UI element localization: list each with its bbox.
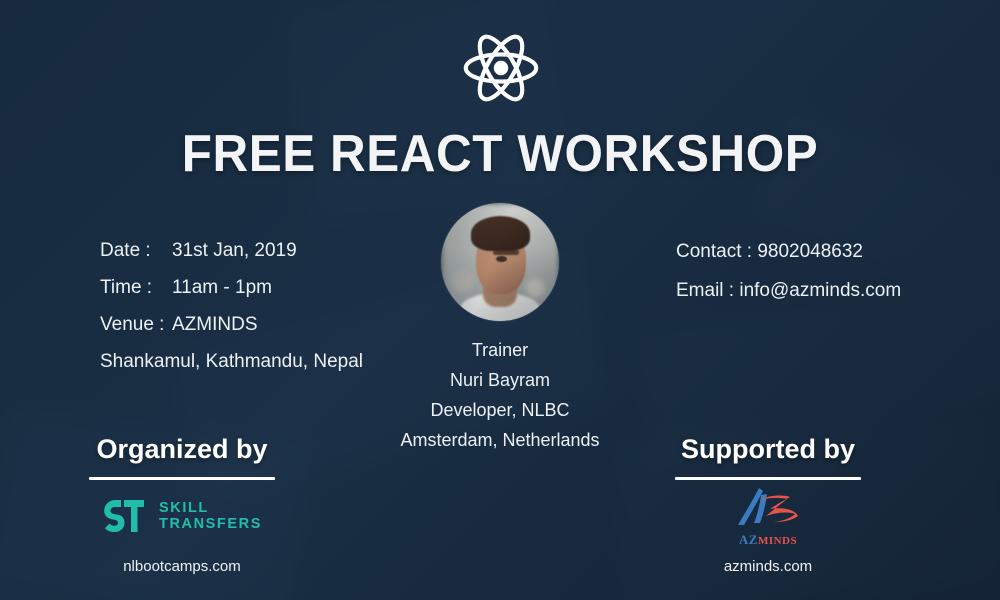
- skill-transfers-line2: TRANSFERS: [159, 516, 262, 532]
- supported-by-heading: Supported by: [608, 434, 928, 465]
- trainer-location: Amsterdam, Netherlands: [350, 425, 650, 455]
- skill-transfers-logo: SKILL TRANSFERS: [102, 498, 262, 534]
- react-atom-icon: [461, 28, 541, 108]
- detail-label-date: Date :: [100, 232, 172, 269]
- trainer-role-label: Trainer: [350, 335, 650, 365]
- contact-details: Contact : 9802048632 Email : info@azmind…: [676, 232, 996, 310]
- organized-by-url[interactable]: nlbootcamps.com: [22, 558, 342, 575]
- trainer-block: Trainer Nuri Bayram Developer, NLBC Amst…: [350, 203, 650, 455]
- skill-transfers-line1: SKILL: [159, 500, 262, 516]
- page-title: FREE REACT WORKSHOP: [25, 124, 975, 184]
- contact-email: Email : info@azminds.com: [676, 271, 996, 310]
- trainer-position: Developer, NLBC: [350, 395, 650, 425]
- detail-label-time: Time :: [100, 269, 172, 306]
- detail-value-date: 31st Jan, 2019: [172, 232, 297, 269]
- azminds-word-az: AZ: [739, 532, 758, 547]
- azminds-word-minds: MINDS: [758, 535, 797, 547]
- detail-label-venue: Venue :: [100, 306, 172, 343]
- contact-phone: Contact : 9802048632: [676, 232, 996, 271]
- detail-value-venue: AZMINDS: [172, 306, 258, 343]
- trainer-name: Nuri Bayram: [350, 365, 650, 395]
- supported-by-url[interactable]: azminds.com: [608, 558, 928, 575]
- trainer-portrait: [441, 203, 559, 321]
- organized-by-heading: Organized by: [22, 434, 342, 465]
- detail-value-time: 11am - 1pm: [172, 269, 272, 306]
- st-monogram-icon: [102, 498, 146, 534]
- organized-by-block: Organized by SKILL TRANSFERS nlbootcamps…: [22, 434, 342, 575]
- azminds-logo: AZMINDS: [729, 485, 807, 548]
- supported-by-block: Supported by AZMINDS azminds.com: [608, 434, 928, 575]
- poster-canvas: FREE REACT WORKSHOP Date : 31st Jan, 201…: [0, 0, 1000, 600]
- azminds-mark-icon: [729, 485, 807, 531]
